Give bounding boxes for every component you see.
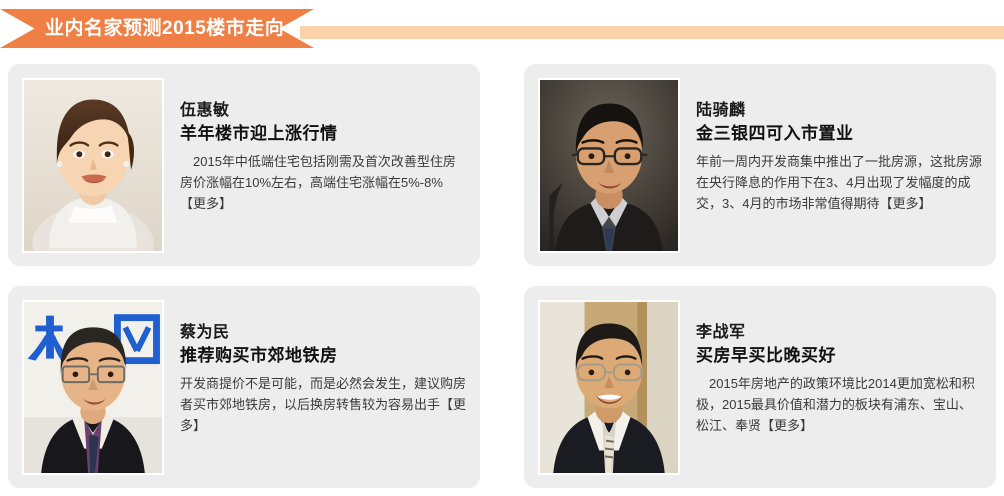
expert-card-cai-weimin[interactable]: 蔡为民 推荐购买市郊地铁房 开发商提价不是可能，而是必然会发生，建议购房者买市郊… (8, 286, 480, 488)
expert-headline[interactable]: 买房早买比晚买好 (696, 344, 982, 368)
portrait-li-zhanjun (538, 300, 680, 475)
expert-headline[interactable]: 金三银四可入市置业 (696, 122, 982, 146)
expert-name: 伍惠敏 (180, 100, 466, 122)
expert-summary[interactable]: 年前一周内开发商集中推出了一批房源，这批房源在央行降息的作用下在3、4月出现了发… (696, 151, 982, 214)
expert-name: 李战军 (696, 322, 982, 344)
page-banner: 业内名家预测2015楼市走向 (0, 0, 1004, 56)
expert-card-grid: 伍惠敏 羊年楼市迎上涨行情 2015年中低端住宅包括刚需及首次改善型住房房价涨幅… (8, 64, 996, 488)
expert-card-wu-huimin[interactable]: 伍惠敏 羊年楼市迎上涨行情 2015年中低端住宅包括刚需及首次改善型住房房价涨幅… (8, 64, 480, 266)
expert-name: 陆骑麟 (696, 100, 982, 122)
expert-summary[interactable]: 开发商提价不是可能，而是必然会发生，建议购房者买市郊地铁房，以后换房转售较为容易… (180, 373, 466, 436)
expert-summary[interactable]: 2015年房地产的政策环境比2014更加宽松和积极，2015最具价值和潜力的板块… (696, 373, 982, 436)
portrait-lu-qilin (538, 78, 680, 253)
portrait-wu-huimin (22, 78, 164, 253)
expert-info-lu-qilin: 陆骑麟 金三银四可入市置业 年前一周内开发商集中推出了一批房源，这批房源在央行降… (680, 78, 982, 214)
expert-info-li-zhanjun: 李战军 买房早买比晚买好 2015年房地产的政策环境比2014更加宽松和积极，2… (680, 300, 982, 436)
expert-info-cai-weimin: 蔡为民 推荐购买市郊地铁房 开发商提价不是可能，而是必然会发生，建议购房者买市郊… (164, 300, 466, 436)
expert-info-wu-huimin: 伍惠敏 羊年楼市迎上涨行情 2015年中低端住宅包括刚需及首次改善型住房房价涨幅… (164, 78, 466, 214)
banner-tail-bar (300, 26, 1004, 39)
portrait-cai-weimin (22, 300, 164, 475)
expert-headline[interactable]: 羊年楼市迎上涨行情 (180, 122, 466, 146)
expert-summary[interactable]: 2015年中低端住宅包括刚需及首次改善型住房房价涨幅在10%左右，高端住宅涨幅在… (180, 151, 466, 214)
expert-card-li-zhanjun[interactable]: 李战军 买房早买比晚买好 2015年房地产的政策环境比2014更加宽松和积极，2… (524, 286, 996, 488)
expert-headline[interactable]: 推荐购买市郊地铁房 (180, 344, 466, 368)
banner-title: 业内名家预测2015楼市走向 (45, 9, 284, 48)
expert-name: 蔡为民 (180, 322, 466, 344)
expert-card-lu-qilin[interactable]: 陆骑麟 金三银四可入市置业 年前一周内开发商集中推出了一批房源，这批房源在央行降… (524, 64, 996, 266)
